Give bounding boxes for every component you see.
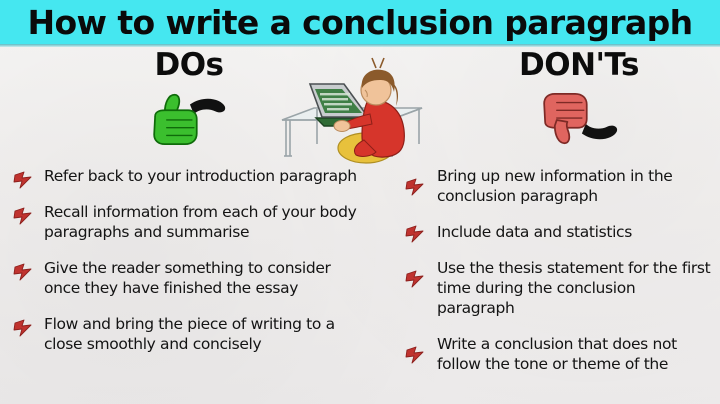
list-item: Refer back to your introduction paragrap… bbox=[8, 166, 360, 186]
thumbs-up-icon bbox=[18, 85, 360, 153]
red-arrow-bullet-icon bbox=[12, 205, 34, 227]
list-item-text: Include data and statistics bbox=[437, 223, 632, 241]
list-item-text: Recall information from each of your bod… bbox=[44, 203, 357, 241]
list-item-text: Flow and bring the piece of writing to a… bbox=[44, 315, 335, 353]
donts-column: DON'Ts bbox=[400, 50, 716, 153]
red-arrow-bullet-icon bbox=[12, 169, 34, 191]
thumbs-down-icon bbox=[442, 85, 716, 153]
donts-list: Bring up new information in the conclusi… bbox=[400, 166, 716, 390]
red-arrow-bullet-icon bbox=[12, 261, 34, 283]
infographic-canvas: How to write a conclusion paragraph bbox=[0, 0, 720, 404]
red-arrow-bullet-icon bbox=[404, 268, 426, 290]
title-banner: How to write a conclusion paragraph bbox=[0, 0, 720, 44]
red-arrow-bullet-icon bbox=[404, 344, 426, 366]
page-title: How to write a conclusion paragraph bbox=[27, 6, 692, 39]
list-item: Recall information from each of your bod… bbox=[8, 202, 360, 242]
list-item-text: Give the reader something to consider on… bbox=[44, 259, 331, 297]
list-item: Include data and statistics bbox=[400, 222, 716, 242]
list-item-text: Bring up new information in the conclusi… bbox=[437, 167, 673, 205]
list-item: Bring up new information in the conclusi… bbox=[400, 166, 716, 206]
list-item: Write a conclusion that does not follow … bbox=[400, 334, 716, 374]
red-arrow-bullet-icon bbox=[404, 223, 426, 245]
list-item-text: Use the thesis statement for the first t… bbox=[437, 259, 710, 317]
list-item: Give the reader something to consider on… bbox=[8, 258, 360, 298]
list-item: Use the thesis statement for the first t… bbox=[400, 258, 716, 318]
dos-heading: DOs bbox=[18, 50, 360, 81]
list-item: Flow and bring the piece of writing to a… bbox=[8, 314, 360, 354]
list-item-text: Refer back to your introduction paragrap… bbox=[44, 167, 357, 185]
dos-list: Refer back to your introduction paragrap… bbox=[8, 166, 360, 370]
red-arrow-bullet-icon bbox=[12, 317, 34, 339]
donts-heading: DON'Ts bbox=[442, 50, 716, 81]
dos-column: DOs bbox=[8, 50, 360, 153]
list-item-text: Write a conclusion that does not follow … bbox=[437, 335, 677, 373]
red-arrow-bullet-icon bbox=[404, 176, 426, 198]
